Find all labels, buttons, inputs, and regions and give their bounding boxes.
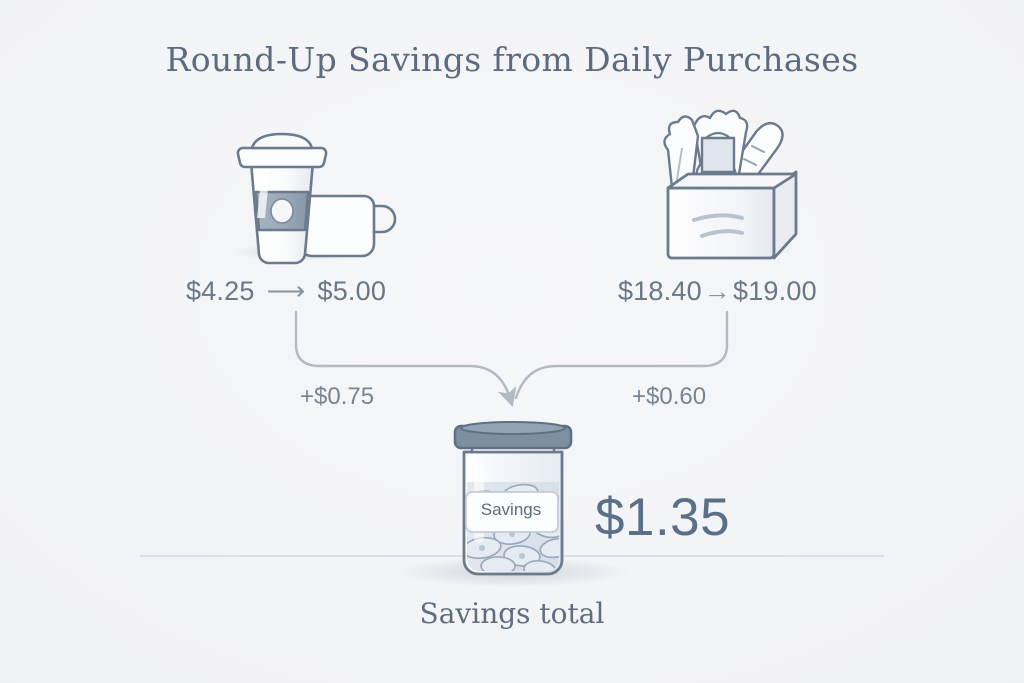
groceries-original-price: $18.40	[618, 276, 702, 306]
bag-side	[774, 172, 796, 258]
leafy-greens	[694, 111, 747, 184]
round-up-arrow-icon: ⟶	[255, 276, 318, 307]
purchase-price-coffee: $4.25⟶$5.00	[186, 276, 386, 307]
jar-shadow	[395, 557, 631, 587]
mug-handle	[374, 206, 395, 232]
cup-highlight	[257, 170, 270, 218]
leaf-vein	[676, 148, 682, 186]
jar-neck	[472, 438, 554, 452]
jar-coins	[458, 482, 573, 581]
ground-line-group	[140, 556, 884, 587]
produce-round	[696, 156, 736, 200]
jar-lid	[455, 426, 571, 448]
togo-cup	[238, 134, 326, 263]
cup-logo	[271, 199, 293, 223]
grocery-bag-icon	[664, 111, 796, 259]
jar-lid-top	[461, 422, 565, 434]
baguette-scores	[728, 146, 764, 191]
groceries-rounded-price: $19.00	[733, 276, 817, 306]
jar-savings-label: Savings	[466, 500, 556, 520]
round-up-arrow-icon: →	[702, 276, 733, 307]
purchase-price-groceries: $18.40→$19.00	[618, 276, 817, 307]
carton-item	[702, 138, 734, 172]
round-up-delta-coffee: +$0.75	[300, 383, 374, 411]
infographic-canvas: Round-Up Savings from Daily Purchases	[0, 0, 1024, 683]
baguette	[717, 123, 783, 203]
bag-contents	[664, 111, 782, 203]
coffee-cup-icon	[234, 134, 395, 263]
mug-body	[300, 196, 374, 256]
savings-total-amount: $1.35	[595, 487, 730, 548]
coffee-original-price: $4.25	[186, 276, 255, 306]
bag-rim	[668, 174, 796, 188]
carton-top	[706, 133, 730, 138]
coffee-shadow	[234, 243, 358, 261]
bag-front	[668, 188, 774, 258]
celery-leaf	[664, 116, 698, 188]
bag-shadow	[678, 241, 794, 259]
page-title: Round-Up Savings from Daily Purchases	[0, 40, 1024, 79]
cup-lid-rim	[238, 148, 326, 167]
illustration-layer	[0, 0, 1024, 683]
savings-total-caption: Savings total	[0, 597, 1024, 630]
bag-swooshes	[694, 215, 742, 236]
cup-lid-dome	[252, 134, 312, 148]
round-up-delta-groceries: +$0.60	[632, 383, 706, 411]
cup-body	[251, 162, 313, 263]
cup-sleeve	[256, 192, 308, 230]
coffee-rounded-price: $5.00	[318, 276, 387, 306]
coffee-mug	[300, 196, 395, 256]
